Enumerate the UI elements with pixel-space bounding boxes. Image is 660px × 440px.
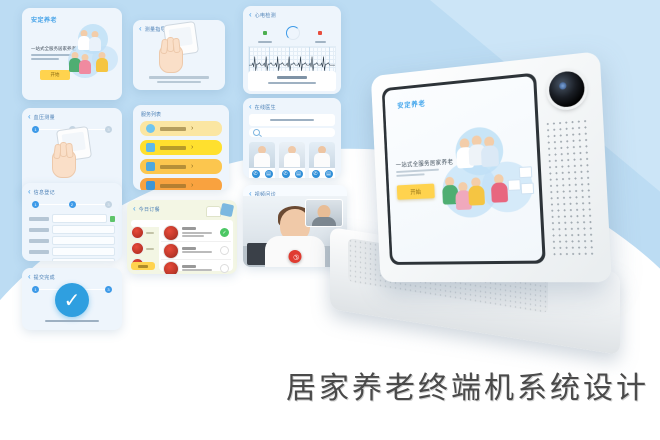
card-profile-form[interactable]: ‹ 信息登记 1 2 3 <box>22 183 122 261</box>
back-chevron-icon[interactable]: ‹ <box>28 188 31 196</box>
step-dot-1[interactable]: 1 <box>32 201 39 208</box>
housekeeping-icon <box>146 162 155 171</box>
hand-holding-device-illustration <box>147 21 211 77</box>
service-label <box>160 165 186 169</box>
service-label <box>160 184 186 188</box>
doctor-card[interactable]: ✆ ▤ <box>249 142 275 178</box>
video-icon[interactable]: ▤ <box>295 170 303 178</box>
device-body: 安定养老 一站式全服务居家养老 开始 <box>371 51 612 282</box>
nav-title: 提交完成 <box>34 274 55 281</box>
meal-icon <box>146 181 155 190</box>
call-icon[interactable]: ✆ <box>252 170 260 178</box>
field-label <box>29 261 49 262</box>
service-label <box>160 127 186 131</box>
service-item-housekeeping[interactable]: › <box>140 159 222 174</box>
app-subline <box>396 169 439 178</box>
field-label <box>29 228 49 232</box>
dish-photo <box>163 261 179 275</box>
back-chevron-icon[interactable]: ‹ <box>28 113 31 121</box>
meal-info <box>182 227 217 238</box>
name-field[interactable] <box>52 214 107 223</box>
terminal-device: 安定养老 一站式全服务居家养老 开始 <box>320 58 660 358</box>
service-list-title: 服务列表 <box>133 105 229 121</box>
camera-lens-icon <box>548 70 585 109</box>
service-label <box>160 146 186 150</box>
meal-order-button[interactable] <box>131 262 155 270</box>
guide-caption <box>139 76 219 85</box>
form-row[interactable] <box>22 213 122 224</box>
meal-select-toggle[interactable] <box>220 246 229 255</box>
emergency-contact-field[interactable] <box>52 258 115 261</box>
start-button[interactable]: 开始 <box>397 184 435 200</box>
field-label <box>29 250 49 254</box>
back-chevron-icon[interactable]: ‹ <box>249 103 252 111</box>
card-nav[interactable]: ‹ 信息登记 <box>22 183 122 198</box>
page-title: 居家养老终端机系统设计 <box>286 363 649 407</box>
back-chevron-icon[interactable]: ‹ <box>133 205 136 213</box>
phone-field[interactable] <box>52 225 115 234</box>
speaker-grille <box>545 118 598 258</box>
app-logo: 安定养老 <box>397 98 426 110</box>
nav-title: 信息登记 <box>34 189 55 196</box>
card-welcome[interactable]: 安定养老 一站式全服务居家养老 开始 <box>22 8 122 100</box>
field-label <box>29 239 49 243</box>
nav-title: 今日订餐 <box>139 206 160 213</box>
device-screen[interactable]: 安定养老 一站式全服务居家养老 开始 <box>384 76 542 262</box>
nav-title: 血压测量 <box>34 114 55 121</box>
step-dot-3[interactable]: 3 <box>105 126 112 133</box>
cart-item[interactable] <box>131 226 157 239</box>
meal-info <box>182 265 217 273</box>
back-chevron-icon[interactable]: ‹ <box>139 25 142 33</box>
service-item-medical[interactable]: › <box>140 121 222 136</box>
poster-stage: 安定养老 一站式全服务居家养老 开始 <box>0 0 660 440</box>
dish-photo <box>163 243 179 259</box>
chevron-right-icon: › <box>191 163 193 170</box>
call-icon[interactable]: ✆ <box>312 170 320 178</box>
back-chevron-icon[interactable]: ‹ <box>28 273 31 281</box>
field-label <box>29 217 49 221</box>
step-dot-3[interactable]: 3 <box>105 286 112 293</box>
form-row[interactable] <box>22 246 122 257</box>
verified-badge-icon <box>110 216 115 222</box>
dish-thumbnail <box>131 242 144 255</box>
meal-row[interactable] <box>161 242 231 260</box>
card-nav[interactable]: ‹ 提交完成 <box>22 268 122 283</box>
card-submit-success[interactable]: ‹ 提交完成 1 2 3 ✓ <box>22 268 122 330</box>
address-field[interactable] <box>52 247 115 256</box>
screen-illustration <box>438 119 539 234</box>
service-item-meal[interactable]: › <box>140 178 222 190</box>
chevron-right-icon: › <box>191 182 193 189</box>
meal-select-toggle[interactable]: ✓ <box>220 228 229 237</box>
meal-select-toggle[interactable] <box>220 264 229 273</box>
card-nav[interactable]: ‹ 血压测量 <box>22 108 122 123</box>
meal-menu-list[interactable]: ✓ <box>159 222 233 271</box>
heart-rate-gauge <box>286 26 300 40</box>
ecg-legend <box>243 21 341 44</box>
search-icon <box>253 129 260 136</box>
back-chevron-icon[interactable]: ‹ <box>249 11 252 19</box>
hangup-button[interactable]: ✆ <box>289 250 302 263</box>
step-dot-1[interactable]: 1 <box>32 286 39 293</box>
meal-row[interactable]: ✓ <box>161 224 231 242</box>
device-screen-bezel: 安定养老 一站式全服务居家养老 开始 <box>382 73 546 265</box>
meal-info <box>182 247 217 255</box>
nav-title: 在线医生 <box>255 104 276 111</box>
service-tile-icon <box>521 183 535 195</box>
welcome-logo: 安定养老 <box>22 8 122 24</box>
heartbeat-icon <box>146 143 155 152</box>
hand-holding-device-illustration <box>40 126 104 182</box>
welcome-start-button[interactable]: 开始 <box>40 70 70 80</box>
card-measure-guide[interactable]: ‹ 测量指导 <box>133 20 225 90</box>
service-tile-icon <box>508 179 521 191</box>
stethoscope-icon <box>146 124 155 133</box>
card-meal-order[interactable]: ‹ 今日订餐 <box>127 200 237 274</box>
chevron-right-icon: › <box>191 144 193 151</box>
nav-title: 心电检测 <box>255 12 276 19</box>
meal-row[interactable] <box>161 260 231 274</box>
step-indicator: 1 2 3 <box>22 198 122 210</box>
birthdate-field[interactable] <box>52 236 115 245</box>
video-icon[interactable]: ▤ <box>265 170 273 178</box>
success-caption <box>22 309 122 327</box>
step-dot-2[interactable]: 2 <box>69 201 76 208</box>
form-row[interactable] <box>22 257 122 261</box>
dish-thumbnail <box>131 226 144 239</box>
form-row[interactable] <box>22 224 122 235</box>
meal-header-art <box>199 203 233 219</box>
dish-photo <box>163 225 179 241</box>
form-row[interactable] <box>22 235 122 246</box>
chevron-right-icon: › <box>191 125 193 132</box>
card-nav[interactable]: ‹ 心电检测 <box>243 6 341 21</box>
call-icon[interactable]: ✆ <box>282 170 290 178</box>
cart-item[interactable] <box>131 242 157 255</box>
card-service-list[interactable]: 服务列表 › › › › <box>133 105 229 190</box>
step-dot-1[interactable]: 1 <box>32 126 39 133</box>
step-dot-3[interactable]: 3 <box>105 201 112 208</box>
doctor-card[interactable]: ✆ ▤ <box>279 142 305 178</box>
service-tile-icon <box>519 166 533 178</box>
service-item-health[interactable]: › <box>140 140 222 155</box>
